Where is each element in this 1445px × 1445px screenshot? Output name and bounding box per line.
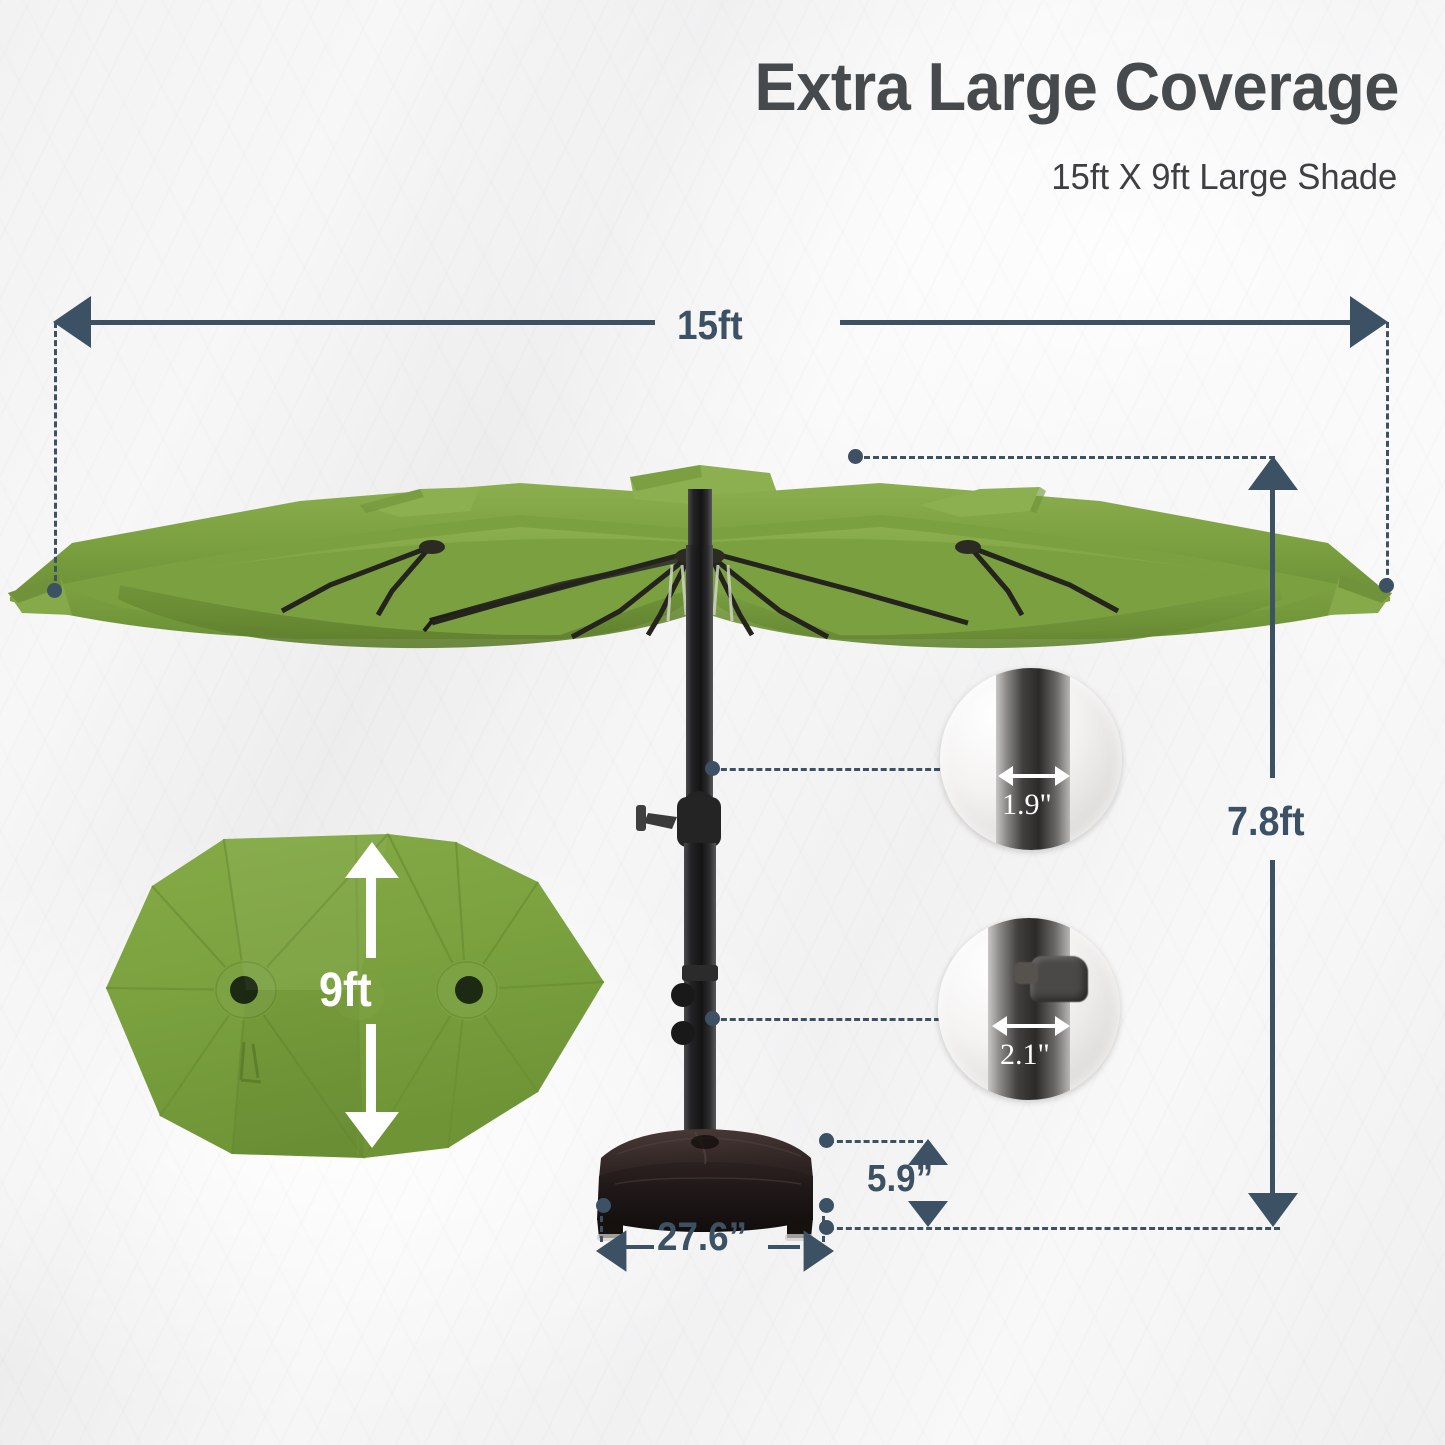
guide-dot-base-mid-right	[819, 1198, 834, 1213]
guide-line-left	[54, 322, 57, 590]
dimension-label-height: 7.8ft	[1227, 798, 1305, 845]
leader-dot-upper-pole	[705, 761, 720, 776]
magnifier-circle-icon-upper-pole	[940, 668, 1122, 850]
arrow-down-icon	[1248, 1193, 1298, 1227]
dimension-label-canopy-depth: 9ft	[319, 963, 372, 1018]
magnified-pole-upper	[996, 668, 1070, 850]
callout-label-lower-pole: 2.1"	[1000, 1038, 1050, 1072]
arrow-up-icon	[1248, 456, 1298, 490]
dimension-line-9ft-lower	[366, 1024, 376, 1114]
leader-line-lower-pole	[712, 1018, 940, 1021]
callout-arrow-upper	[1012, 774, 1056, 778]
dimension-label-base-height: 5.9”	[867, 1158, 933, 1201]
arrow-down-icon-canopy-depth	[345, 1112, 399, 1148]
leader-line-upper-pole	[712, 768, 940, 771]
arrow-right-icon	[1350, 296, 1388, 348]
dimension-line-height-lower	[1270, 860, 1275, 1197]
magnifier-circle-icon-lower-pole	[938, 918, 1120, 1100]
magnified-crank-icon	[1030, 956, 1088, 1002]
arrow-down-icon-base-height	[908, 1201, 948, 1227]
arrow-left-icon-base-width	[596, 1230, 626, 1272]
leader-dot-lower-pole	[705, 1011, 720, 1026]
dimension-line-9ft-upper	[366, 876, 376, 958]
guide-dot-base-left	[596, 1198, 611, 1213]
infographic-canvas: Extra Large Coverage 15ft X 9ft Large Sh…	[0, 0, 1445, 1445]
callout-arrow-lower	[1006, 1024, 1056, 1028]
dimension-line-276-right	[768, 1245, 800, 1249]
dimension-line-height-upper	[1270, 488, 1275, 778]
guide-dot-left	[47, 583, 62, 598]
arrow-right-icon-base-width	[804, 1230, 834, 1272]
guide-line-base-bottom	[828, 1227, 1280, 1230]
guide-line-right	[1386, 322, 1389, 584]
guide-dot-right	[1379, 578, 1394, 593]
magnified-pole-lower	[988, 918, 1070, 1100]
guide-line-top-horizontal	[855, 456, 1275, 459]
dimension-line-15ft-right	[840, 320, 1353, 325]
arrow-left-icon	[53, 296, 91, 348]
dimension-label-base-width: 27.6”	[657, 1215, 747, 1260]
page-title: Extra Large Coverage	[755, 48, 1399, 126]
dimension-line-15ft-left	[90, 320, 655, 325]
dimension-label-width: 15ft	[677, 302, 743, 349]
guide-dot-canopy-top	[848, 449, 863, 464]
arrow-up-icon-canopy-depth	[345, 842, 399, 878]
dimension-line-276-left	[622, 1245, 654, 1249]
callout-label-upper-pole: 1.9"	[1002, 788, 1052, 822]
guide-dot-base-top-right	[819, 1133, 834, 1148]
page-subtitle: 15ft X 9ft Large Shade	[1051, 156, 1397, 198]
